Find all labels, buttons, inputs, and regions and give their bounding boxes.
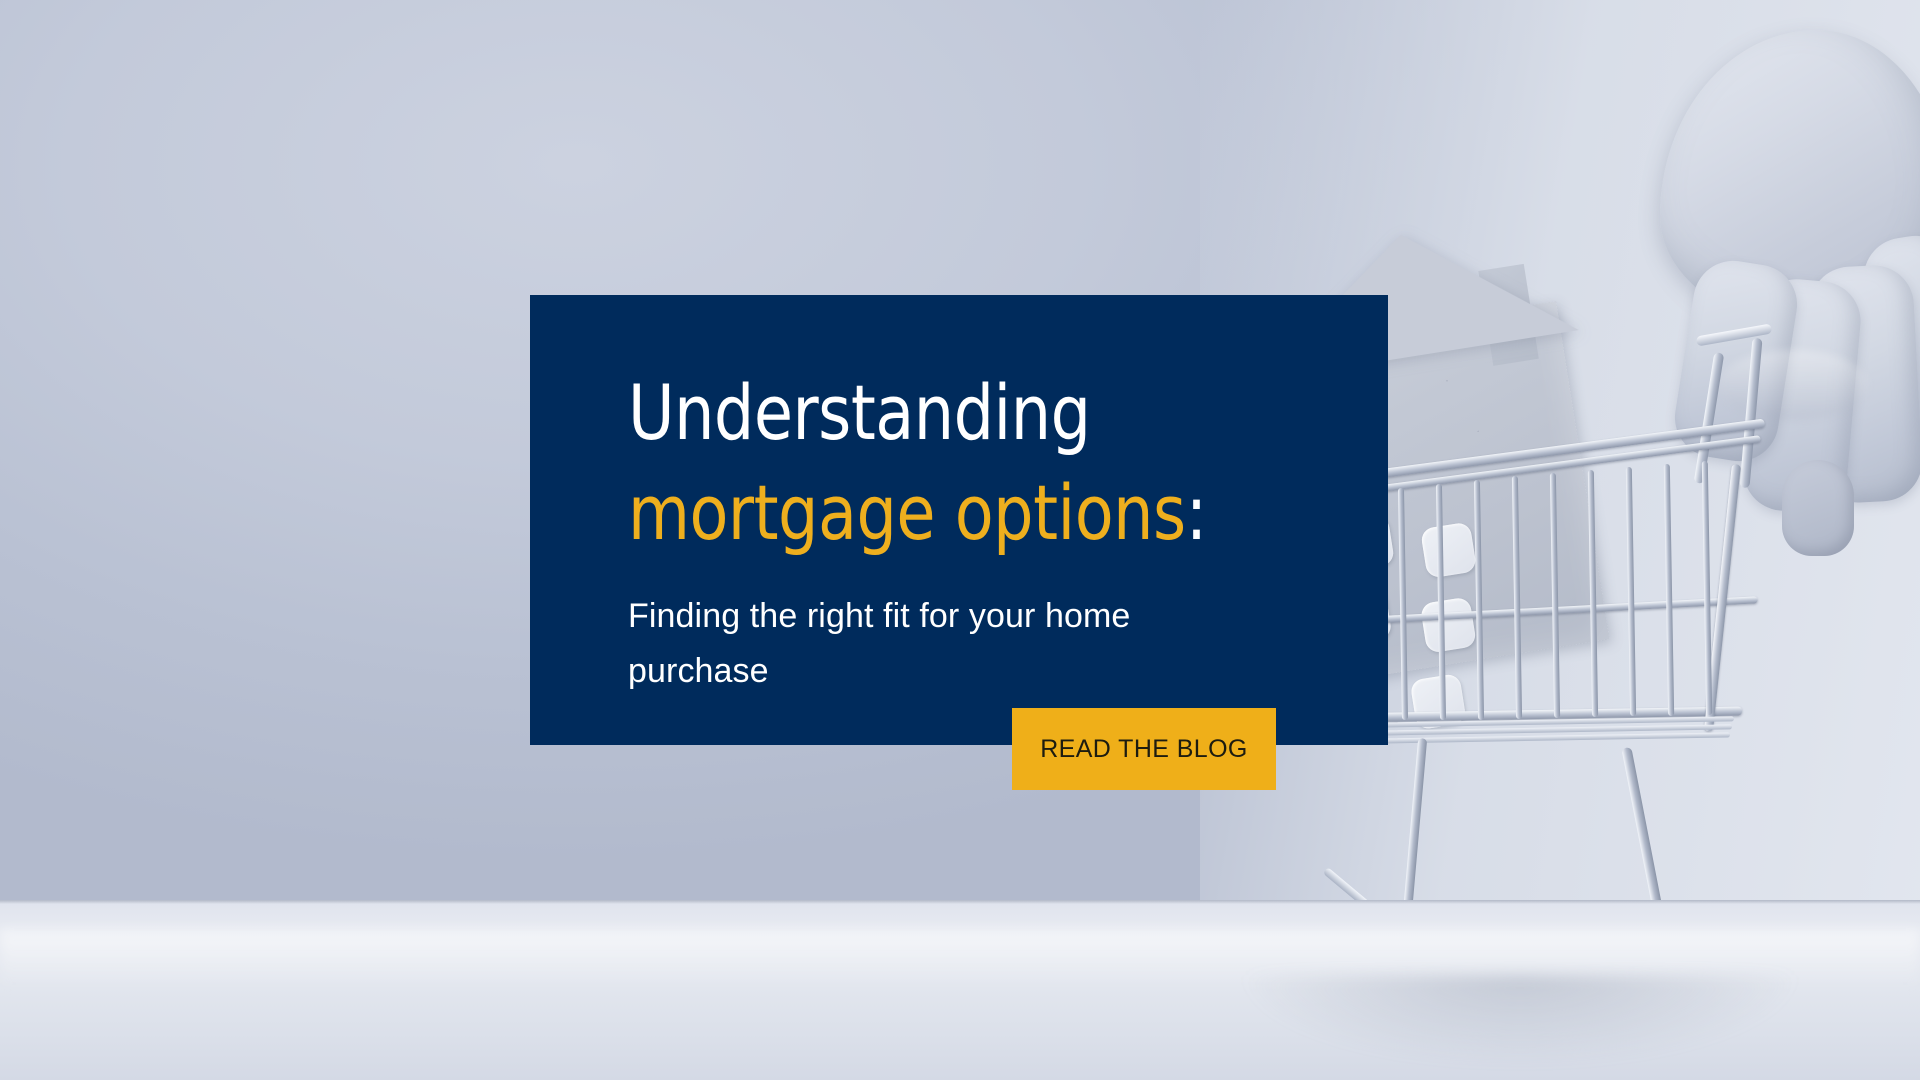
hero-banner: Understanding mortgage options: Finding …	[0, 0, 1920, 1080]
table-horizon-line	[0, 900, 1920, 904]
headline-highlight: mortgage options	[628, 468, 1186, 557]
headline-line-1: Understanding	[628, 363, 1298, 463]
basket-wire	[1626, 467, 1636, 716]
basket-wire	[1398, 488, 1408, 720]
basket-wire	[1702, 461, 1712, 715]
content-panel: Understanding mortgage options: Finding …	[530, 295, 1388, 745]
basket-wire	[1512, 476, 1522, 719]
page-subtitle: Finding the right fit for your home purc…	[628, 589, 1248, 699]
headline-line-2: mortgage options:	[628, 463, 1298, 563]
hand-knuckle-shading	[1718, 350, 1868, 420]
cart-reflection	[1240, 975, 1800, 1065]
read-the-blog-button[interactable]: READ THE BLOG	[1012, 708, 1276, 790]
basket-wire	[1664, 464, 1674, 716]
basket-wire	[1588, 470, 1598, 717]
cart-leg	[1402, 738, 1427, 926]
basket-wire	[1550, 473, 1560, 718]
headline-colon: :	[1186, 468, 1207, 557]
content-panel-inner: Understanding mortgage options: Finding …	[628, 363, 1348, 699]
basket-wire	[1436, 484, 1446, 720]
basket-wire	[1474, 480, 1484, 720]
page-title: Understanding mortgage options:	[628, 363, 1298, 563]
